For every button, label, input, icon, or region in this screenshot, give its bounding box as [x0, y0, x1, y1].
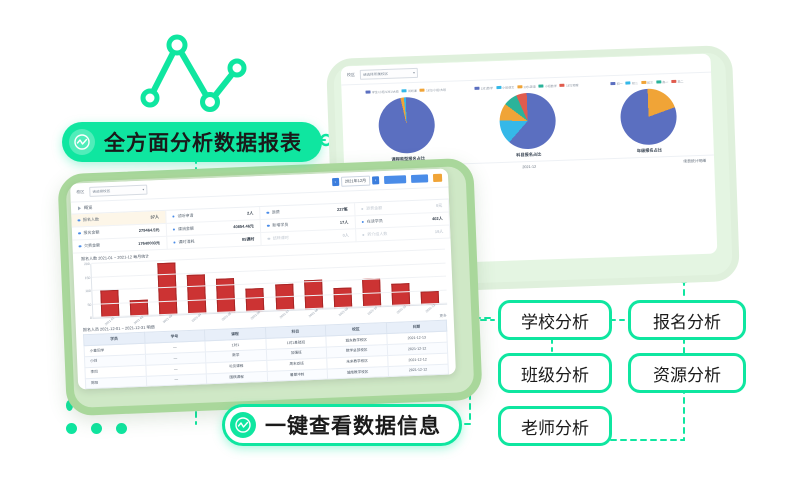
footer-center-value: 2021-12: [522, 165, 536, 170]
pulse-icon: [69, 129, 95, 155]
poster-stage: 校区 请选择所属校区 ▾ 学生/小班/1对1/大班 试听课 1对1/小班/大班 …: [0, 0, 800, 500]
legend-item: 高二: [671, 77, 684, 86]
bar-chart-section: 报名人数 2021-01 ~ 2021-12 每月统计 050100150200…: [73, 238, 454, 324]
search-button[interactable]: [384, 175, 406, 184]
prev-month-button[interactable]: ‹: [332, 178, 339, 186]
bar: [333, 287, 352, 308]
button-class-analysis[interactable]: 班级分析: [498, 353, 612, 393]
button-teacher-analysis[interactable]: 老师分析: [498, 406, 612, 446]
table-cell: 城南教学校区: [327, 366, 388, 379]
reset-button[interactable]: [433, 174, 442, 182]
region-select-value: 请选择所属校区: [363, 72, 388, 77]
table-cell: 暑期冲刺: [267, 369, 328, 382]
date-pager[interactable]: ‹ 2021年12月 ›: [332, 175, 380, 187]
pie-chart-row: 学生/小班/1对1/大班 试听课 1对1/小班/大班 课程类型报名占比 1对1数…: [341, 73, 714, 165]
pulse-icon: [230, 412, 256, 438]
legend-item: 学生/小班/1对1/大班: [365, 87, 398, 97]
y-tick-label: 150: [85, 275, 91, 279]
dot: [91, 423, 102, 434]
legend-item: 1对1/小班/大班: [420, 85, 447, 95]
legend-item: 试听课: [401, 86, 417, 96]
pill-label-top-text: 全方面分析数据报表: [104, 127, 302, 157]
region-label: 校区: [347, 72, 355, 78]
pie-legend-2: 初一 初二 初三 高一 高二: [610, 77, 683, 89]
button-resource-analysis[interactable]: 资源分析: [628, 353, 746, 393]
legend-item: 1对1物理: [560, 80, 579, 90]
y-tick-label: 50: [88, 302, 92, 306]
pie-chart-0: [378, 96, 436, 154]
pie-chart-2: [619, 88, 677, 146]
caret-icon: [78, 206, 81, 210]
pill-label-top[interactable]: 全方面分析数据报表: [62, 122, 322, 162]
region-select[interactable]: 请选择校区 ▾: [89, 185, 147, 197]
next-month-button[interactable]: ›: [372, 176, 379, 184]
bar: [157, 263, 177, 315]
footer-right-title: 续费统计明细: [683, 159, 706, 165]
legend-item: 初二: [626, 78, 639, 87]
button-school-analysis[interactable]: 学校分析: [498, 300, 612, 340]
y-tick-label: 100: [85, 289, 91, 293]
bar: [391, 284, 410, 306]
pie-card-0: 学生/小班/1对1/大班 试听课 1对1/小班/大班 课程类型报名占比: [345, 84, 468, 164]
pie-legend-0: 学生/小班/1对1/大班 试听课 1对1/小班/大班: [365, 85, 446, 97]
pie-title-1: 科目报名占比: [516, 152, 541, 159]
legend-item: 初一: [610, 79, 623, 88]
bar: [187, 275, 207, 314]
region-select-value: 请选择校区: [92, 189, 110, 194]
pie-title-2: 年级报名占比: [637, 147, 662, 154]
y-tick-label: 200: [84, 262, 90, 266]
pill-label-bottom[interactable]: 一键查看数据信息: [222, 404, 462, 446]
chevron-down-icon: ▾: [413, 71, 415, 75]
pie-card-1: 1对1数学 小班语文 1对1英语 小班数学 1对1物理 科目报名占比: [466, 80, 589, 160]
table-cell: —: [146, 373, 207, 386]
dot: [66, 423, 77, 434]
table-cell: 陈阳: [85, 376, 146, 389]
bar: [246, 288, 265, 312]
region-select[interactable]: 请选择所属校区 ▾: [360, 68, 418, 80]
dot: [116, 423, 127, 434]
legend-item: 小班数学: [539, 81, 558, 91]
date-value[interactable]: 2021年12月: [341, 176, 371, 187]
y-tick-label: 0: [90, 316, 92, 320]
bar: [275, 284, 294, 311]
export-button[interactable]: [411, 174, 428, 183]
table-more-link[interactable]: 更多: [439, 313, 446, 318]
legend-item: 小班语文: [496, 82, 515, 92]
legend-item: 1对1英语: [517, 82, 536, 92]
line-graph-decoration: [140, 24, 255, 114]
legend-item: 初三: [641, 78, 654, 87]
chevron-down-icon: ▾: [142, 188, 144, 192]
button-signup-analysis[interactable]: 报名分析: [628, 300, 746, 340]
bottom-dashboard-screen[interactable]: 校区 请选择校区 ▾ ‹ 2021年12月 › 概览 报名人数37人 试听申请2…: [70, 168, 456, 389]
table-cell: 围棋课程: [206, 371, 267, 384]
table-cell: 2021-12-12: [388, 364, 449, 377]
legend-item: 高一: [656, 77, 669, 86]
pie-legend-1: 1对1数学 小班语文 1对1英语 小班数学 1对1物理: [474, 80, 578, 93]
pie-card-2: 初一 初二 初三 高一 高二 年级报名占比: [587, 76, 710, 156]
pie-chart-1: [499, 92, 557, 150]
region-label: 校区: [76, 189, 84, 195]
pill-label-bottom-text: 一键查看数据信息: [265, 410, 441, 440]
legend-item: 1对1数学: [474, 83, 493, 93]
